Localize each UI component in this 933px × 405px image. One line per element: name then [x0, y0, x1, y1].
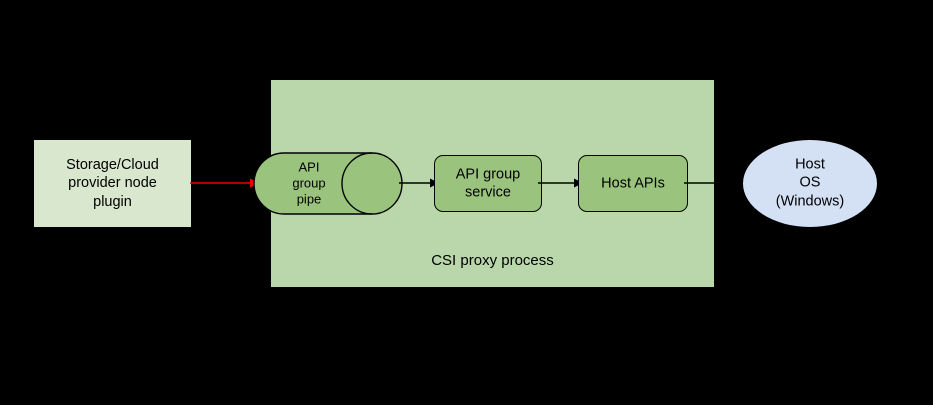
edge-api-group-service-to-host-apis [538, 174, 583, 192]
api-group-service[interactable]: API group service [434, 155, 542, 212]
host-apis-label: Host APIs [579, 174, 687, 193]
host-apis[interactable]: Host APIs [578, 155, 688, 212]
edge-api-group-pipe-to-api-group-service [399, 174, 439, 192]
api-group-pipe[interactable]: API group pipe [253, 152, 403, 215]
api-group-service-label: API group service [435, 165, 541, 202]
csi-proxy-process-label: CSI proxy process [271, 252, 714, 269]
storage-cloud-provider-node-plugin-label: Storage/Cloud provider node plugin [34, 156, 191, 212]
diagram-canvas: CSI proxy process Storage/Cloud provider… [0, 0, 933, 405]
storage-cloud-provider-node-plugin[interactable]: Storage/Cloud provider node plugin [33, 139, 192, 228]
edge-host-apis-to-host-os [684, 176, 716, 188]
edge-plugin-to-api-group-pipe [190, 173, 260, 193]
host-os-windows-label: Host OS (Windows) [743, 155, 877, 212]
host-os-windows[interactable]: Host OS (Windows) [743, 140, 877, 227]
